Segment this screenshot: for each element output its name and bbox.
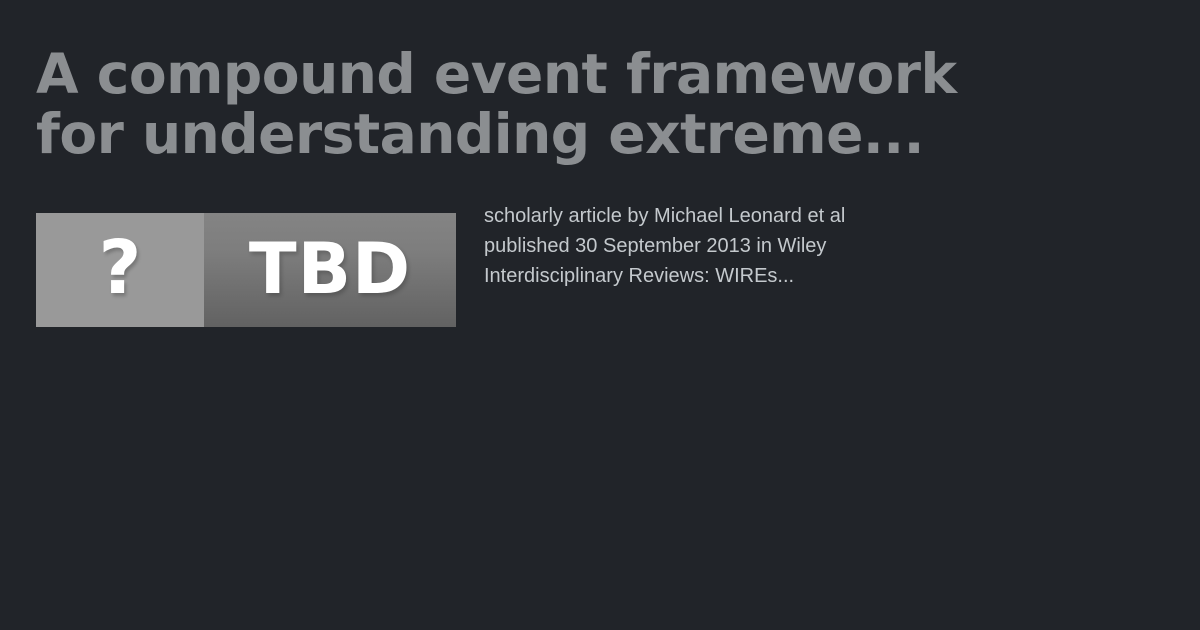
card-body: ? TBD scholarly article by Michael Leona… (36, 213, 1164, 343)
thumbnail-tbd-label: TBD (249, 234, 411, 304)
question-mark-icon: ? (99, 231, 142, 305)
thumbnail-right-panel: TBD (204, 213, 456, 327)
page-title: A compound event framework for understan… (36, 44, 1156, 164)
link-preview-card[interactable]: A compound event framework for understan… (0, 0, 1200, 630)
thumbnail-image[interactable]: ? TBD (36, 213, 456, 327)
thumbnail-left-panel: ? (36, 213, 204, 327)
card-description: scholarly article by Michael Leonard et … (484, 201, 854, 291)
